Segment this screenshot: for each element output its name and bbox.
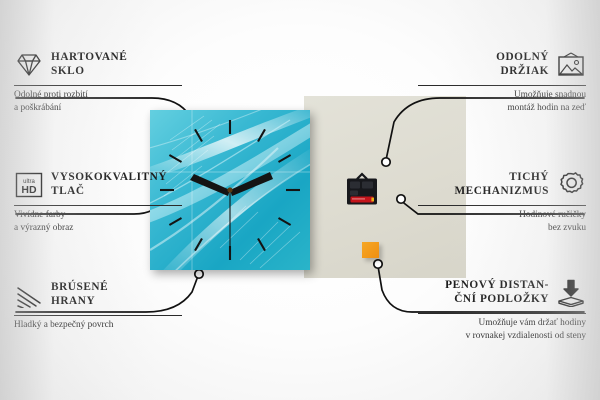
diamond-icon [14, 50, 44, 80]
feature-divider [418, 313, 586, 314]
node-hanger [382, 158, 390, 166]
feature-description: Hladký a bezpečný povrch [14, 319, 182, 332]
feature-title: VYSOKOKVALITNÝ TLAČ [51, 171, 167, 199]
node-mechanism [397, 195, 405, 203]
feature-divider [418, 205, 586, 206]
feature-header: BRÚSENÉ HRANY [14, 278, 182, 312]
feature-header: HARTOVANÉ SKLO [14, 48, 182, 82]
gear-icon [556, 170, 586, 200]
node-edges [195, 270, 203, 278]
feature-description: Umožňuje snadnou montáž hodin na zeď [418, 89, 586, 114]
arrow-onto-pad-icon [556, 278, 586, 308]
feature-hardened-glass: HARTOVANÉ SKLO Odolné proti rozbití a po… [14, 48, 182, 114]
feature-foam-spacers: PENOVÝ DISTAN- ČNÍ PODLOŽKY Umožňuje vám… [418, 276, 586, 342]
ultra-hd-icon: ultra HD [14, 170, 44, 200]
feature-header: TICHÝ MECHANIZMUS [418, 168, 586, 202]
feature-title: TICHÝ MECHANIZMUS [454, 171, 549, 199]
hanger-loop [357, 174, 367, 179]
minute-hand [230, 172, 273, 196]
feature-header: ultra HD VYSOKOKVALITNÝ TLAČ [14, 168, 182, 202]
node-foam [374, 260, 382, 268]
feature-durable-hanger: ODOLNÝ DRŽIAK Umožňuje snadnou montáž ho… [418, 48, 586, 114]
hands-hub [227, 187, 232, 192]
svg-text:HD: HD [21, 184, 37, 196]
infographic-stage: HARTOVANÉ SKLO Odolné proti rozbití a po… [0, 0, 600, 400]
feature-divider [14, 85, 182, 86]
feature-divider [14, 205, 182, 206]
hour-hand [190, 174, 230, 196]
feature-description: Odolné proti rozbití a poškrábání [14, 89, 182, 114]
diagonal-lines-icon [14, 280, 44, 310]
feature-polished-edges: BRÚSENÉ HRANY Hladký a bezpečný povrch [14, 278, 182, 332]
picture-frame-icon [556, 50, 586, 80]
feature-header: ODOLNÝ DRŽIAK [418, 48, 586, 82]
feature-title: HARTOVANÉ SKLO [51, 51, 127, 79]
foam-spacer-pad [362, 242, 379, 258]
feature-title: PENOVÝ DISTAN- ČNÍ PODLOŽKY [445, 279, 549, 307]
feature-description: Hodinové ručičky bez zvuku [418, 209, 586, 234]
feature-description: Vivídne farby a výrazný obraz [14, 209, 182, 234]
feature-title: ODOLNÝ DRŽIAK [496, 51, 549, 79]
feature-high-quality-print: ultra HD VYSOKOKVALITNÝ TLAČ Vivídne far… [14, 168, 182, 234]
feature-divider [14, 315, 182, 316]
feature-description: Umožňuje vám držať hodiny v rovnakej vzd… [418, 317, 586, 342]
feature-header: PENOVÝ DISTAN- ČNÍ PODLOŽKY [418, 276, 586, 310]
feature-divider [418, 85, 586, 86]
feature-silent-mechanism: TICHÝ MECHANIZMUS Hodinové ručičky bez z… [418, 168, 586, 234]
clock-mechanism [345, 172, 379, 206]
feature-title: BRÚSENÉ HRANY [51, 281, 108, 309]
